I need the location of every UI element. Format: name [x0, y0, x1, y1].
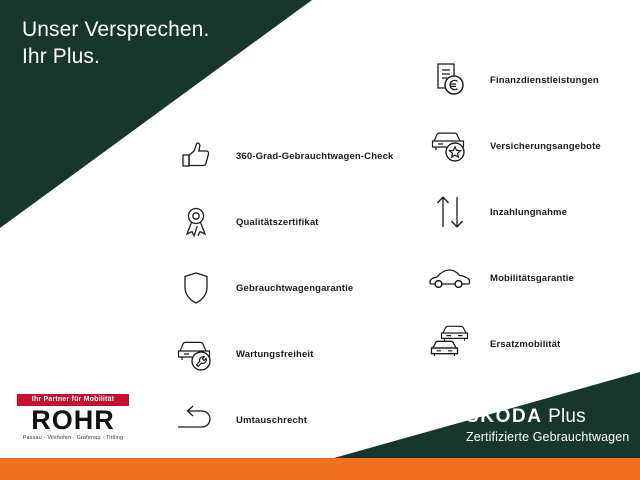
feature-label: Finanzdienstleistungen: [490, 75, 599, 86]
shield-icon: [170, 265, 222, 311]
dealer-logo: Ihr Partner für Mobilität ROHR Passau · …: [17, 394, 129, 441]
thumbs-up-icon: [170, 133, 222, 179]
feature-item: Wartungsfreiheit: [170, 322, 393, 386]
feature-item: Mobilitätsgarantie: [424, 246, 601, 310]
car-star-icon: [424, 123, 476, 169]
feature-list-right: Finanzdienstleistungen Versicherungsange…: [424, 48, 601, 378]
feature-label: Inzahlungnahme: [490, 207, 567, 218]
feature-item: Versicherungsangebote: [424, 114, 601, 178]
feature-label: Gebrauchtwagengarantie: [236, 283, 353, 294]
brand-logo-suffix: Plus: [543, 406, 586, 427]
feature-label: Ersatzmobilität: [490, 339, 560, 350]
car-side-icon: [424, 255, 476, 301]
brand-logo-name: ŠKODA: [466, 406, 543, 427]
two-cars-icon: [424, 321, 476, 367]
car-wrench-icon: [170, 331, 222, 377]
u-turn-arrow-icon: [170, 397, 222, 443]
up-down-arrows-icon: [424, 189, 476, 235]
footer-accent-bar: [0, 458, 640, 480]
feature-label: Umtauschrecht: [236, 415, 307, 426]
page-title: Unser Versprechen. Ihr Plus.: [22, 16, 209, 70]
feature-item: Umtauschrecht: [170, 388, 393, 452]
dealer-logo-wordmark: ROHR: [17, 407, 129, 433]
feature-list-left: 360-Grad-Gebrauchtwagen-Check Qualitätsz…: [170, 124, 393, 454]
brand-logo-tagline: Zertifizierte Gebrauchtwagen: [466, 429, 629, 445]
feature-item: Finanzdienstleistungen: [424, 48, 601, 112]
feature-label: Qualitätszertifikat: [236, 217, 319, 228]
brand-logo-name-row: ŠKODA Plus: [466, 406, 629, 428]
brand-logo: ŠKODA Plus Zertifizierte Gebrauchtwagen: [466, 406, 629, 445]
feature-item: Qualitätszertifikat: [170, 190, 393, 254]
promotional-slide: Unser Versprechen. Ihr Plus. 360-Grad-Ge…: [0, 0, 640, 480]
feature-label: 360-Grad-Gebrauchtwagen-Check: [236, 151, 393, 162]
award-rosette-icon: [170, 199, 222, 245]
feature-item: Ersatzmobilität: [424, 312, 601, 376]
feature-item: Inzahlungnahme: [424, 180, 601, 244]
feature-label: Wartungsfreiheit: [236, 349, 314, 360]
feature-item: Gebrauchtwagengarantie: [170, 256, 393, 320]
document-euro-icon: [424, 57, 476, 103]
dealer-logo-cities: Passau · Vilshofen · Grafenau · Tittling: [17, 435, 129, 441]
feature-label: Mobilitätsgarantie: [490, 273, 574, 284]
feature-item: 360-Grad-Gebrauchtwagen-Check: [170, 124, 393, 188]
feature-label: Versicherungsangebote: [490, 141, 601, 152]
